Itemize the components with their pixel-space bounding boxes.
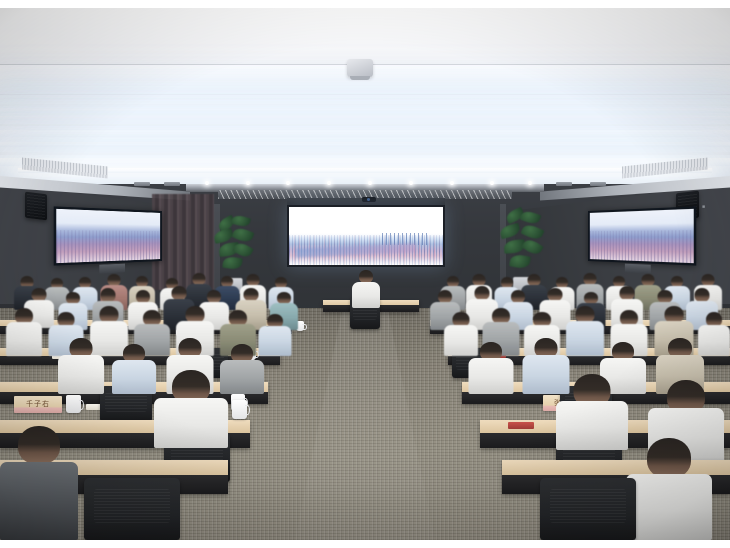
name-placard-text: 千子右 — [26, 401, 50, 408]
tea-mug — [232, 400, 247, 419]
ceiling-light-strip — [0, 158, 730, 166]
ceiling-seam-line — [0, 152, 730, 155]
ceiling-light-strip — [0, 108, 730, 113]
downlight-row — [198, 181, 538, 187]
attendee-foreground — [0, 426, 78, 540]
wall-label-right: ■ — [702, 204, 706, 210]
ceiling-light-strip — [0, 142, 730, 147]
name-placard: 千子右 — [14, 396, 62, 413]
attendee — [58, 338, 104, 394]
ceiling-light-strip — [0, 96, 730, 99]
attendee-foreground — [154, 370, 228, 448]
ceiling-light-strip — [0, 116, 730, 120]
ceiling-seam-line — [0, 124, 730, 126]
ceiling — [0, 8, 730, 204]
ceiling-light-strip — [18, 168, 712, 173]
attendee-foreground — [556, 374, 628, 450]
ceiling-slat — [134, 182, 150, 186]
red-booklet — [508, 422, 534, 429]
main-led-display[interactable] — [287, 205, 445, 267]
attendee — [566, 306, 604, 356]
side-display-right[interactable] — [588, 206, 696, 265]
attendee — [112, 344, 156, 394]
wall-speaker-left — [25, 192, 47, 221]
presenter — [352, 270, 380, 308]
conference-room-photo: ■ — [0, 8, 730, 540]
photo-canvas: ■ — [0, 0, 730, 548]
side-display-image — [590, 209, 694, 263]
mesh-office-chair — [84, 478, 180, 540]
ceiling-slat — [164, 182, 180, 186]
ceiling-slat — [590, 182, 606, 186]
ceiling-slat — [556, 182, 572, 186]
tea-mug — [66, 395, 81, 413]
side-display-left[interactable] — [54, 206, 162, 265]
display-mount — [99, 264, 125, 274]
side-display-image — [56, 209, 160, 263]
video-conference-camera — [362, 197, 376, 202]
ceiling-projector — [347, 59, 373, 77]
attendee — [468, 342, 513, 394]
ceiling-light-strip — [0, 130, 730, 137]
display-bezel — [287, 205, 445, 267]
mesh-office-chair — [540, 478, 636, 540]
attendee — [6, 308, 42, 356]
attendee-foreground — [626, 438, 712, 540]
ceiling-seam-line — [0, 104, 730, 106]
display-mount — [625, 264, 651, 274]
